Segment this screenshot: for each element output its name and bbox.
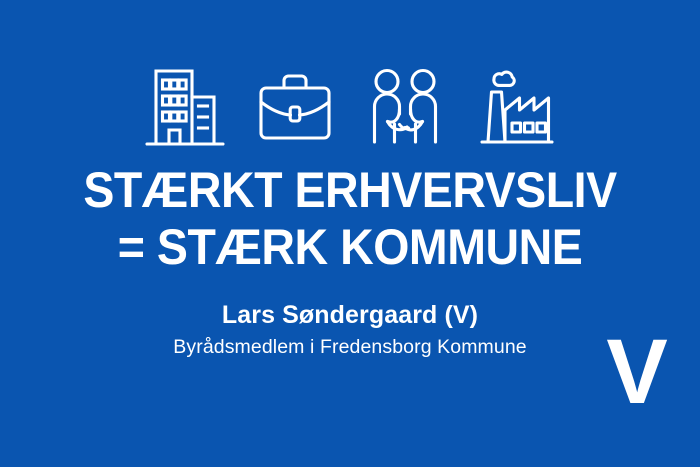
candidate-role: Byrådsmedlem i Fredensborg Kommune bbox=[0, 334, 700, 361]
campaign-poster: STÆRKT ERHVERVSLIV = STÆRK KOMMUNE Lars … bbox=[0, 0, 700, 467]
headline-line-1: STÆRKT ERHVERVSLIV bbox=[25, 162, 676, 219]
briefcase-icon bbox=[254, 62, 336, 150]
candidate-name: Lars Søndergaard (V) bbox=[0, 300, 700, 331]
party-logo-letter: V bbox=[606, 329, 665, 415]
headline-line-2: = STÆRK KOMMUNE bbox=[25, 219, 676, 276]
candidate-block: Lars Søndergaard (V) Byrådsmedlem i Fred… bbox=[0, 300, 700, 361]
headline: STÆRKT ERHVERVSLIV = STÆRK KOMMUNE bbox=[0, 162, 700, 276]
handshake-icon bbox=[364, 62, 446, 150]
factory-icon bbox=[474, 62, 556, 150]
icon-row bbox=[0, 60, 700, 152]
office-building-icon bbox=[144, 62, 226, 150]
party-logo-v: V bbox=[600, 329, 672, 415]
